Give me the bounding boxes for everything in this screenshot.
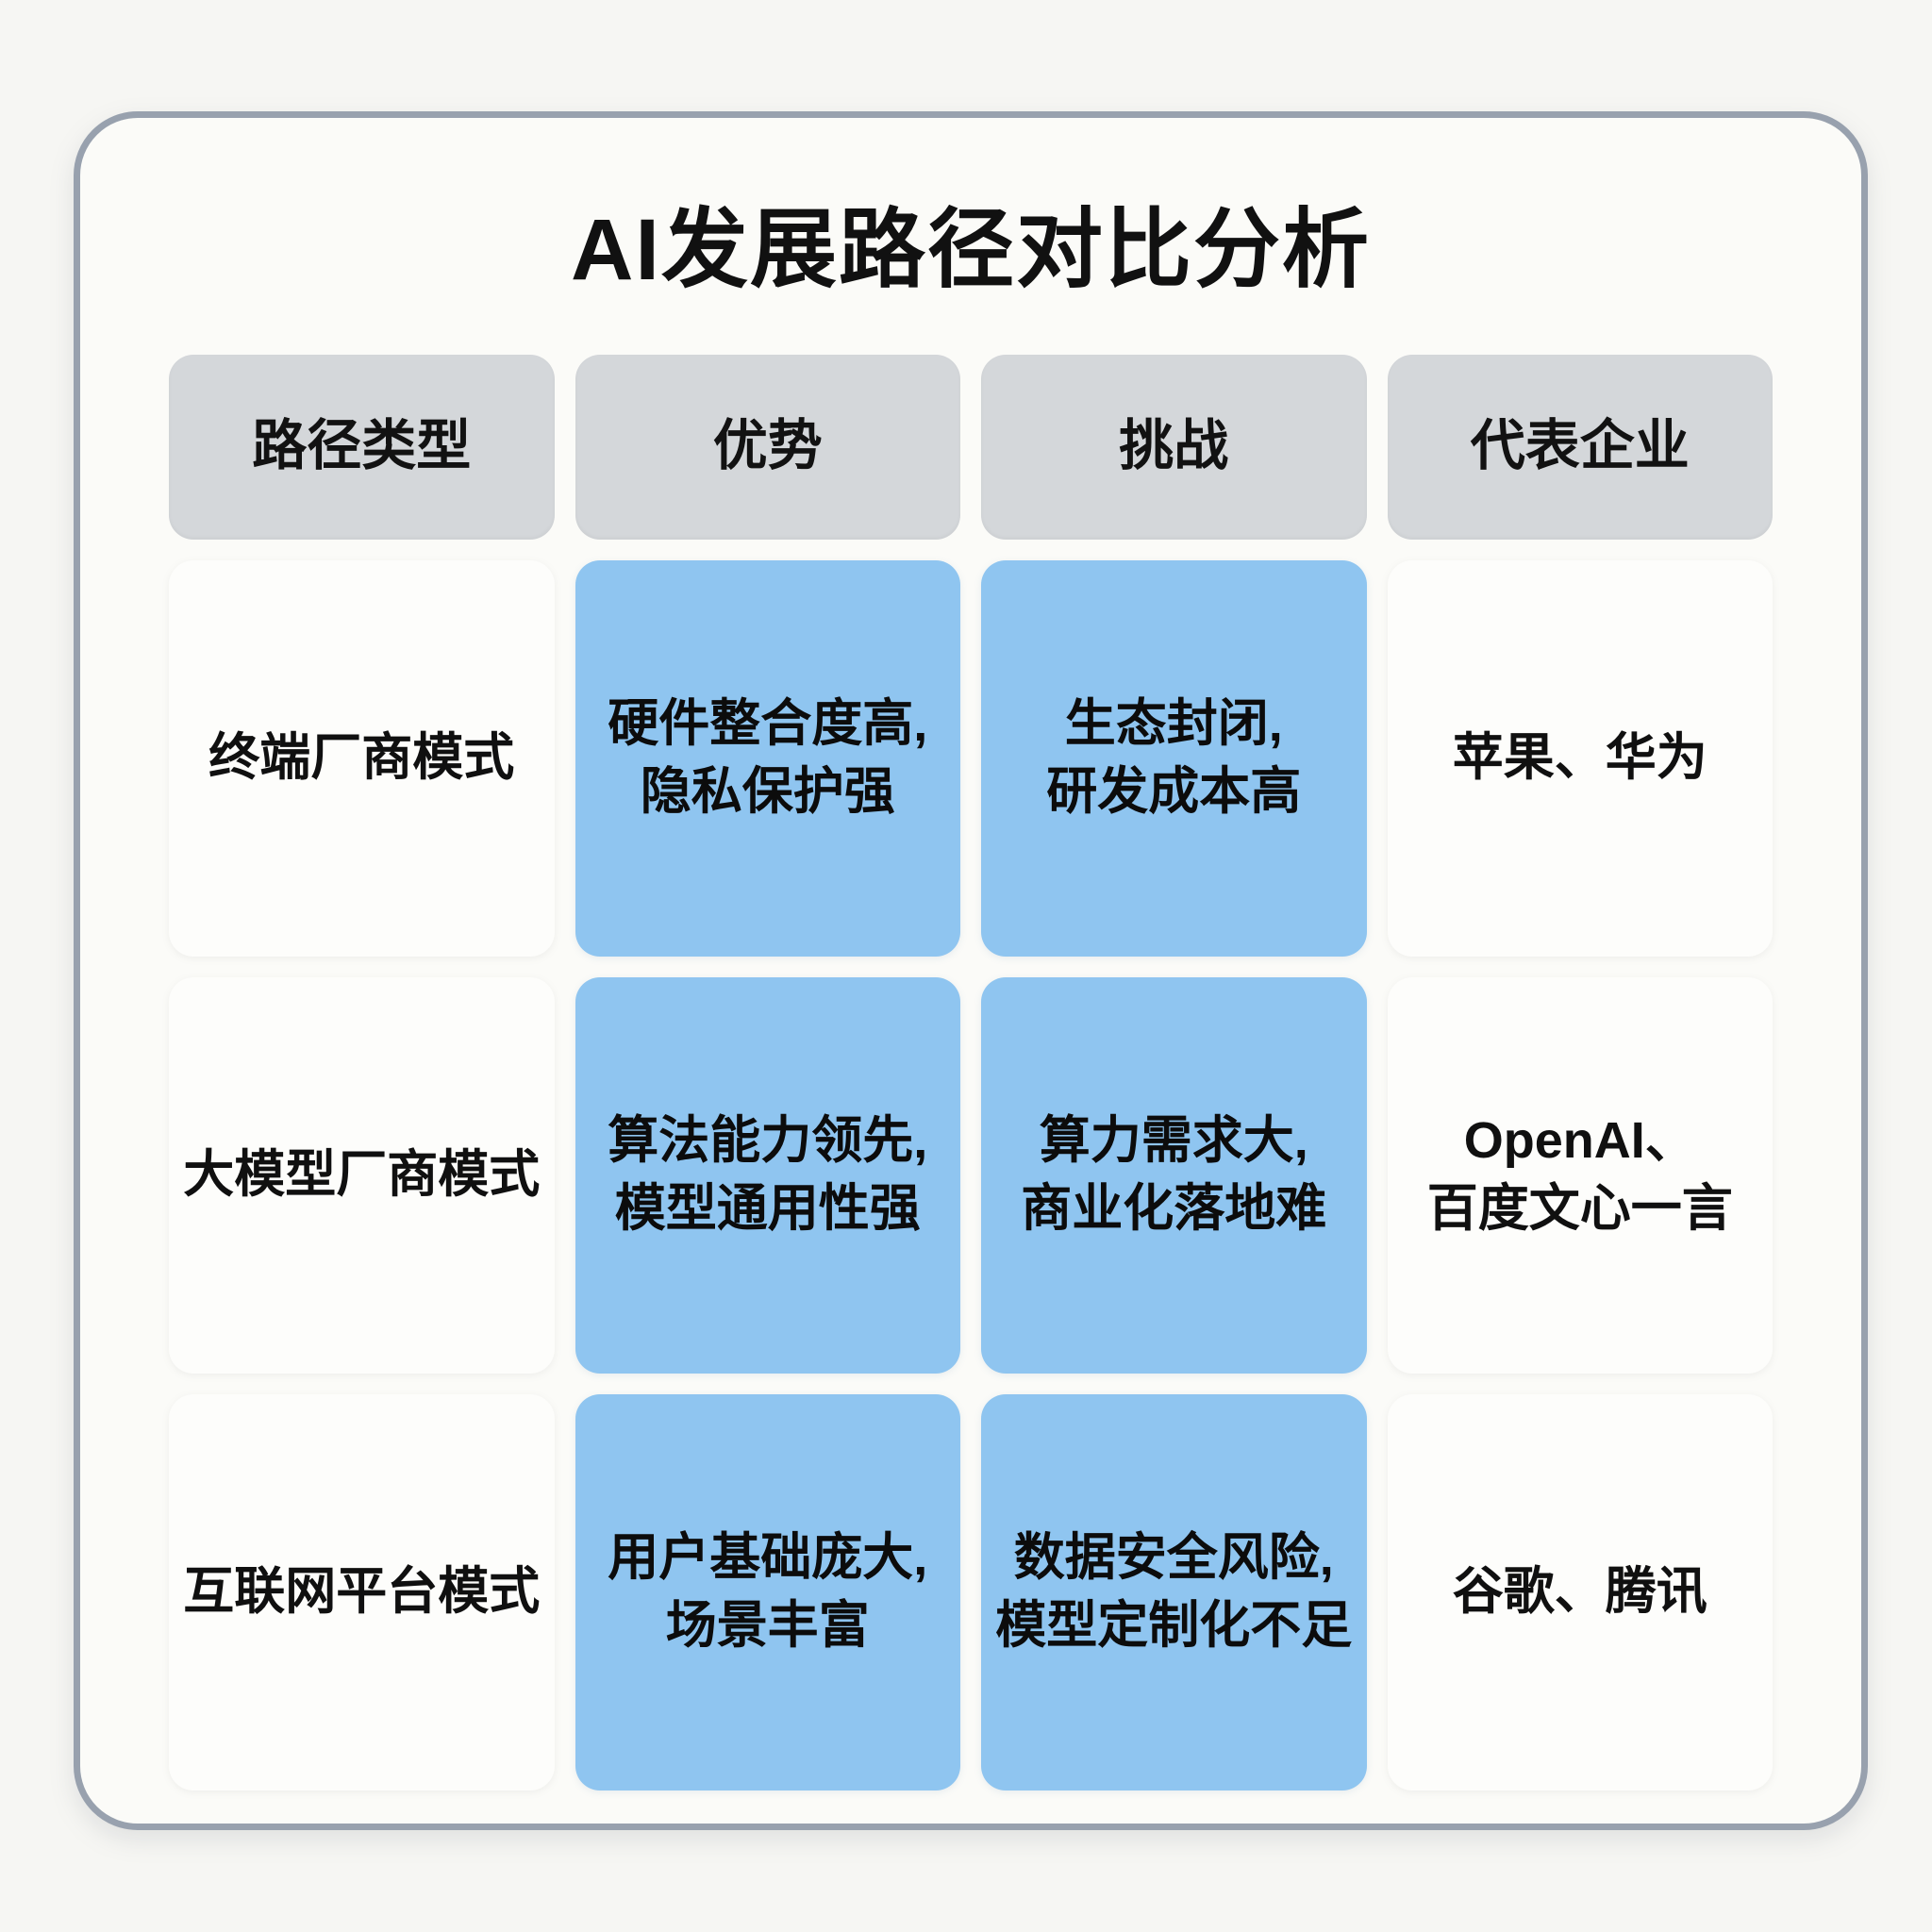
table-row: 数据安全风险, 模型定制化不足 xyxy=(981,1394,1367,1790)
page-title: AI发展路径对比分析 xyxy=(571,205,1371,296)
cell-challenge: 算力需求大, 商业化落地难 xyxy=(1021,1108,1326,1242)
cell-advantage: 硬件整合度高, 隐私保护强 xyxy=(608,691,927,825)
column-header-companies-label: 代表企业 xyxy=(1471,410,1690,483)
cell-advantage: 算法能力领先, 模型通用性强 xyxy=(608,1108,927,1242)
column-header-path-type: 路径类型 xyxy=(169,355,555,540)
comparison-card: AI发展路径对比分析 路径类型 优势 挑战 代表企业 终端厂商模式 硬件整合度高… xyxy=(74,111,1868,1830)
table-row: 大模型厂商模式 xyxy=(169,977,555,1374)
column-header-challenge: 挑战 xyxy=(981,355,1367,540)
table-row: 生态封闭, 研发成本高 xyxy=(981,560,1367,957)
cell-challenge: 数据安全风险, 模型定制化不足 xyxy=(995,1524,1352,1659)
column-header-path-type-label: 路径类型 xyxy=(252,410,471,483)
column-header-challenge-label: 挑战 xyxy=(1119,410,1228,483)
column-header-advantage: 优势 xyxy=(575,355,961,540)
table-row: 用户基础庞大, 场景丰富 xyxy=(575,1394,961,1790)
cell-path-type: 大模型厂商模式 xyxy=(183,1141,540,1208)
page-canvas: AI发展路径对比分析 路径类型 优势 挑战 代表企业 终端厂商模式 硬件整合度高… xyxy=(0,0,1932,1932)
cell-path-type: 互联网平台模式 xyxy=(183,1558,540,1625)
column-header-companies: 代表企业 xyxy=(1388,355,1774,540)
table-row: 苹果、华为 xyxy=(1388,560,1774,957)
table-row: 算力需求大, 商业化落地难 xyxy=(981,977,1367,1374)
table-row: 互联网平台模式 xyxy=(169,1394,555,1790)
comparison-table: 路径类型 优势 挑战 代表企业 终端厂商模式 硬件整合度高, 隐私保护强 生态封… xyxy=(169,355,1773,1790)
cell-advantage: 用户基础庞大, 场景丰富 xyxy=(608,1524,927,1659)
cell-companies: OpenAI、 百度文心一言 xyxy=(1427,1108,1733,1242)
cell-companies: 苹果、华为 xyxy=(1453,724,1707,791)
column-header-advantage-label: 优势 xyxy=(713,410,823,483)
table-row: 硬件整合度高, 隐私保护强 xyxy=(575,560,961,957)
cell-companies: 谷歌、腾讯 xyxy=(1453,1558,1707,1625)
cell-challenge: 生态封闭, 研发成本高 xyxy=(1046,691,1301,825)
table-row: 算法能力领先, 模型通用性强 xyxy=(575,977,961,1374)
table-row: 终端厂商模式 xyxy=(169,560,555,957)
table-row: OpenAI、 百度文心一言 xyxy=(1388,977,1774,1374)
cell-path-type: 终端厂商模式 xyxy=(208,724,514,791)
table-row: 谷歌、腾讯 xyxy=(1388,1394,1774,1790)
